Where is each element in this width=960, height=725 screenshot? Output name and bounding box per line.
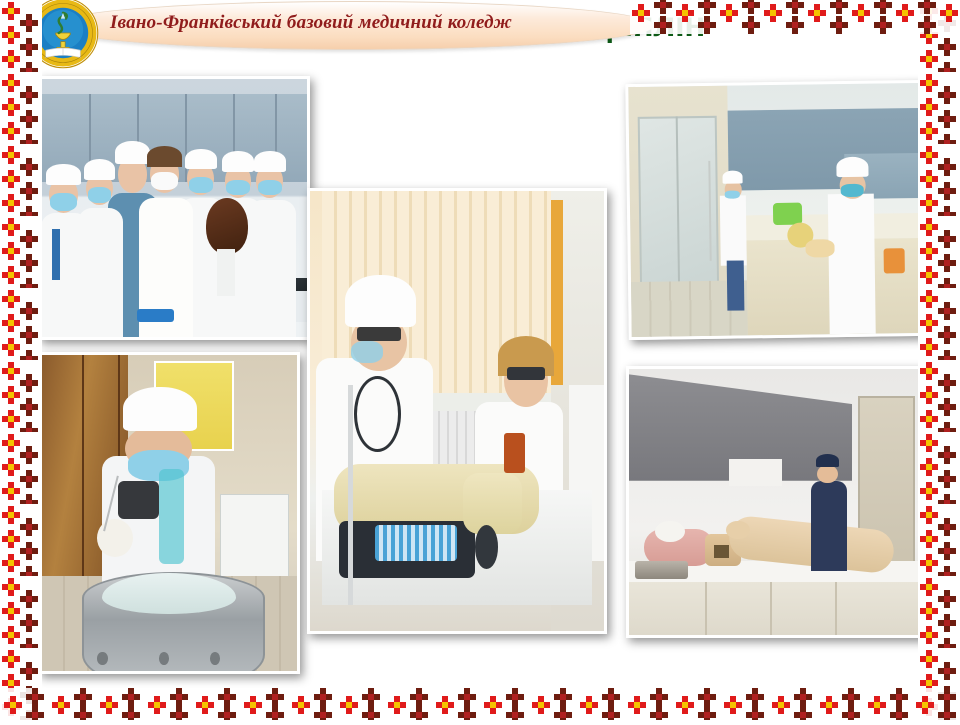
college-name-text: Івано-Франківський базовий медичний коле…: [110, 3, 580, 43]
photo-infusion-practice: [307, 188, 607, 634]
photo-simulation-room: [626, 366, 926, 638]
embroidery-border-bottom: [0, 688, 960, 720]
presentation-slide: ічних дисциплін: [0, 0, 960, 720]
photo-pediatric-lab: [625, 80, 926, 340]
embroidery-border-right: [918, 0, 960, 720]
photo-sterilization: [38, 352, 300, 674]
photo-students-group: [38, 76, 310, 340]
embroidery-border-left: [0, 0, 42, 720]
embroidery-border-top: [630, 0, 960, 34]
